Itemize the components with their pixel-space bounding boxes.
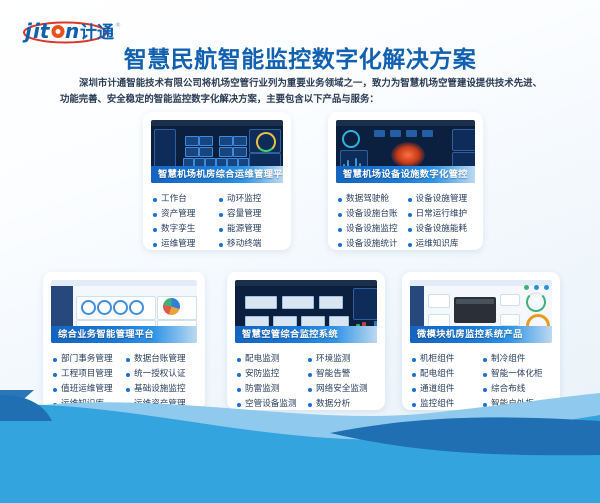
feature-label: 数据台账管理 [134, 352, 186, 367]
feature-item[interactable]: 配电监测 [237, 352, 308, 367]
solution-card-airport-datacenter-om-platform[interactable]: 智慧机场机房综合运维管理平台 工作台 动环监控 资产管理 容量管理 数字孪生 能… [143, 112, 291, 250]
feature-item[interactable]: 日常运行维护 [408, 207, 478, 222]
card-screenshot-thumbnail: 智慧机场设备设施数字化管控平台 [336, 120, 475, 183]
feature-item[interactable]: 设备设施统计 [338, 237, 408, 250]
feature-label: 设备设施台账 [346, 207, 398, 222]
feature-item[interactable]: 部门事务管理 [53, 352, 126, 367]
feature-label: 设备设施管理 [416, 192, 468, 207]
bullet-dot [338, 228, 342, 232]
feature-label: 安防监控 [245, 367, 279, 382]
page-title: 智慧民航智能监控数字化解决方案 [0, 40, 600, 74]
card-title: 综合业务智能管理平台 [51, 326, 197, 343]
feature-label: 容量管理 [227, 207, 261, 222]
bullet-dot [338, 198, 342, 202]
feature-label: 制冷组件 [491, 352, 525, 367]
bullet-dot [408, 228, 412, 232]
feature-item[interactable]: 能源管理 [219, 222, 285, 237]
bullet-dot [237, 373, 241, 377]
feature-item[interactable]: 环境监测 [308, 352, 379, 367]
feature-item[interactable]: 制冷组件 [483, 352, 554, 367]
bullet-dot [219, 243, 223, 247]
feature-item[interactable]: 设备设施监控 [338, 222, 408, 237]
bullet-dot [153, 213, 157, 217]
card-title: 智慧机场机房综合运维管理平台 [151, 166, 283, 183]
feature-item[interactable]: 运维管理 [153, 237, 219, 250]
feature-label: 智能告警 [316, 367, 350, 382]
feature-label: 运维管理 [161, 237, 195, 250]
feature-label: 部门事务管理 [61, 352, 113, 367]
bullet-dot [308, 373, 312, 377]
feature-list: 数据驾驶舱 设备设施管理 设备设施台账 日常运行维护 设备设施监控 设备设施能耗… [328, 183, 483, 250]
bullet-dot [408, 213, 412, 217]
bullet-dot [308, 358, 312, 362]
feature-label: 动环监控 [227, 192, 261, 207]
solution-poster: j it n 计通 ® 智慧民航智能监控数字化解决方案 深圳市计通智能技术有限公… [0, 0, 600, 503]
bullet-dot [219, 228, 223, 232]
feature-item[interactable]: 资产管理 [153, 207, 219, 222]
feature-label: 移动终端 [227, 237, 261, 250]
feature-label: 设备设施统计 [346, 237, 398, 250]
feature-label: 资产管理 [161, 207, 195, 222]
feature-label: 环境监测 [316, 352, 350, 367]
bullet-dot [483, 373, 487, 377]
card-screenshot-thumbnail: 智慧机场机房综合运维管理平台 [151, 120, 283, 183]
feature-item[interactable]: 智能告警 [308, 367, 379, 382]
bullet-dot [126, 373, 130, 377]
feature-item[interactable]: 数据驾驶舱 [338, 192, 408, 207]
feature-item[interactable]: 移动终端 [219, 237, 285, 250]
feature-item[interactable]: 设备设施管理 [408, 192, 478, 207]
feature-item[interactable]: 机柜组件 [412, 352, 483, 367]
card-title: 智慧机场设备设施数字化管控平台 [336, 166, 475, 183]
feature-item[interactable]: 容量管理 [219, 207, 285, 222]
bullet-dot [237, 358, 241, 362]
feature-label: 设备设施能耗 [416, 222, 468, 237]
bullet-dot [219, 198, 223, 202]
bullet-dot [338, 243, 342, 247]
intro-paragraph: 深圳市计通智能技术有限公司将机场空管行业列为重要业务领域之一，致力为智慧机场空管… [60, 76, 542, 108]
card-screenshot-thumbnail: 微模块机房监控系统产品 [410, 280, 552, 343]
feature-label: 运维知识库 [416, 237, 459, 250]
bullet-dot [153, 198, 157, 202]
card-title: 微模块机房监控系统产品 [410, 326, 552, 343]
feature-list: 工作台 动环监控 资产管理 容量管理 数字孪生 能源管理 运维管理 移动终端 [143, 183, 291, 250]
feature-item[interactable]: 设备设施台账 [338, 207, 408, 222]
feature-label: 统一授权认证 [134, 367, 186, 382]
bullet-dot [153, 228, 157, 232]
bullet-dot [408, 243, 412, 247]
bullet-dot [412, 373, 416, 377]
feature-item[interactable]: 工程项目管理 [53, 367, 126, 382]
bullet-dot [53, 358, 57, 362]
bullet-dot [153, 243, 157, 247]
bullet-dot [338, 213, 342, 217]
feature-item[interactable]: 智能一体化柜 [483, 367, 554, 382]
feature-label: 工作台 [161, 192, 187, 207]
feature-item[interactable]: 运维知识库 [408, 237, 478, 250]
feature-label: 日常运行维护 [416, 207, 468, 222]
solution-card-airport-equipment-digital-platform[interactable]: 智慧机场设备设施数字化管控平台 数据驾驶舱 设备设施管理 设备设施台账 日常运行… [328, 112, 483, 250]
feature-label: 能源管理 [227, 222, 261, 237]
feature-item[interactable]: 数据台账管理 [126, 352, 199, 367]
feature-item[interactable]: 配电组件 [412, 367, 483, 382]
feature-label: 数字孪生 [161, 222, 195, 237]
feature-item[interactable]: 动环监控 [219, 192, 285, 207]
feature-label: 机柜组件 [420, 352, 454, 367]
feature-item[interactable]: 设备设施能耗 [408, 222, 478, 237]
card-screenshot-thumbnail: 综合业务智能管理平台 [51, 280, 197, 343]
feature-label: 配电组件 [420, 367, 454, 382]
feature-label: 数据驾驶舱 [346, 192, 389, 207]
feature-label: 智能一体化柜 [491, 367, 543, 382]
feature-item[interactable]: 安防监控 [237, 367, 308, 382]
bullet-dot [219, 213, 223, 217]
feature-label: 配电监测 [245, 352, 279, 367]
feature-label: 工程项目管理 [61, 367, 113, 382]
feature-item[interactable]: 统一授权认证 [126, 367, 199, 382]
card-screenshot-thumbnail: 智慧空管综合监控系统 [235, 280, 377, 343]
card-title: 智慧空管综合监控系统 [235, 326, 377, 343]
bottom-wave-decoration [0, 383, 600, 503]
feature-item[interactable]: 数字孪生 [153, 222, 219, 237]
bullet-dot [412, 358, 416, 362]
bullet-dot [483, 358, 487, 362]
bullet-dot [126, 358, 130, 362]
svg-text:®: ® [115, 22, 121, 29]
feature-item[interactable]: 工作台 [153, 192, 219, 207]
feature-label: 设备设施监控 [346, 222, 398, 237]
bullet-dot [53, 373, 57, 377]
bullet-dot [408, 198, 412, 202]
